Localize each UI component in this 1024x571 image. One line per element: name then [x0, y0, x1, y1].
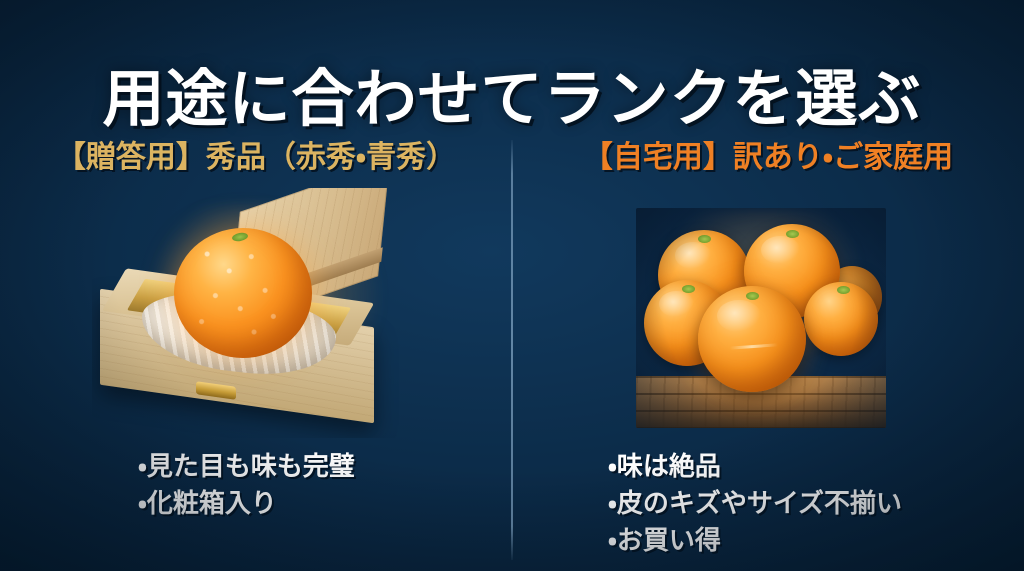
- column-home-heading: 【自宅用】訳あり・ご家庭用: [512, 138, 1024, 178]
- orange-sheen: [717, 300, 760, 332]
- slide-root: 用途に合わせてランクを選ぶ 【贈答用】秀品（赤秀・青秀） 【自宅用】訳あり・ご家…: [0, 0, 1024, 571]
- orange-fruit-front: [698, 286, 806, 392]
- page-title: 用途に合わせてランクを選ぶ: [0, 60, 1024, 140]
- orange-stem-icon: [746, 292, 759, 300]
- column-gift: 【贈答用】秀品（赤秀・青秀）: [0, 132, 512, 571]
- column-gift-heading: 【贈答用】秀品（赤秀・青秀）: [0, 138, 512, 178]
- orange-blemish: [730, 344, 778, 350]
- column-divider: [511, 140, 513, 560]
